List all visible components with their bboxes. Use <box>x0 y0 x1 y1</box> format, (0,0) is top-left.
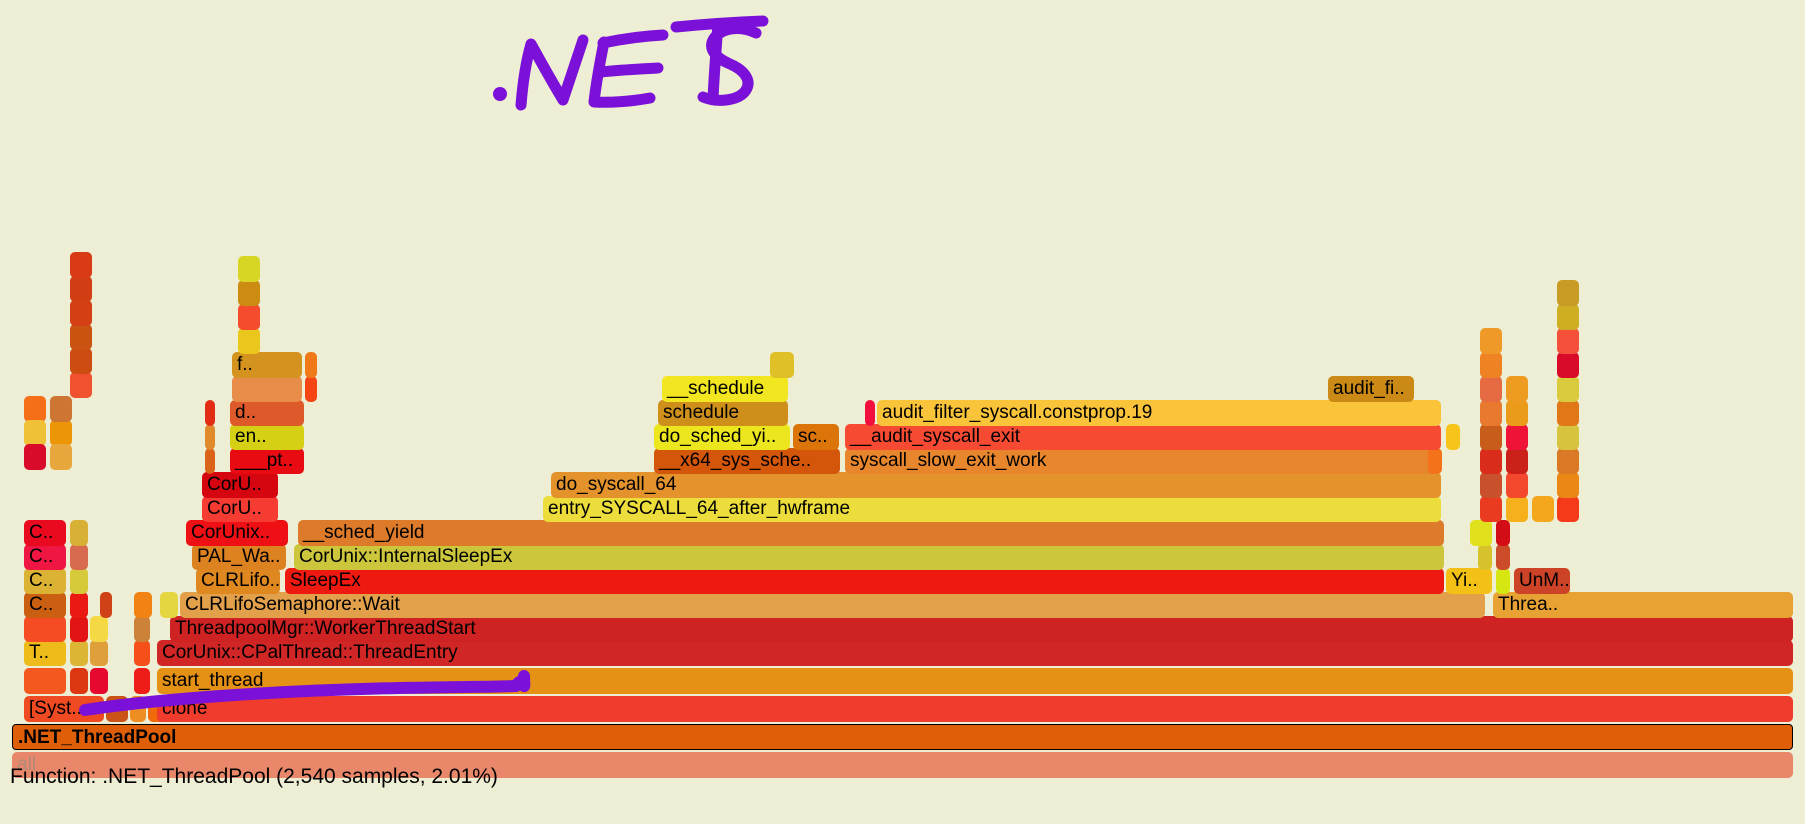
flame-frame-unlabeled[interactable] <box>205 400 215 426</box>
flame-frame[interactable]: d.. <box>230 400 304 426</box>
flame-frame-unlabeled[interactable] <box>90 640 108 666</box>
flame-frame-unlabeled[interactable] <box>1480 424 1502 450</box>
flame-frame-label: start_thread <box>162 670 263 691</box>
flame-frame-unlabeled[interactable] <box>205 424 215 450</box>
flame-frame[interactable]: SleepEx <box>285 568 1444 594</box>
flame-frame-unlabeled[interactable] <box>865 400 875 426</box>
flame-frame-unlabeled[interactable] <box>1506 376 1528 402</box>
flame-frame-unlabeled[interactable] <box>24 668 66 694</box>
flame-frame-label: audit_fi.. <box>1333 378 1405 399</box>
flame-frame-label: CorUnix::CPalThread::ThreadEntry <box>162 642 458 663</box>
flame-frame-unlabeled[interactable] <box>1480 472 1502 498</box>
flame-frame[interactable]: start_thread <box>157 668 1793 694</box>
flame-frame-unlabeled[interactable] <box>134 616 150 642</box>
flame-frame-unlabeled[interactable] <box>70 640 88 666</box>
flame-frame[interactable]: ___pt.. <box>230 448 304 474</box>
flame-frame-unlabeled[interactable] <box>130 696 146 722</box>
flame-frame[interactable]: ThreadpoolMgr::WorkerThreadStart <box>170 616 1793 642</box>
flame-frame[interactable]: schedule <box>658 400 788 426</box>
flame-frame[interactable]: do_sched_yi.. <box>654 424 790 450</box>
flame-frame-unlabeled[interactable] <box>1557 280 1579 306</box>
flame-frame[interactable]: CorU.. <box>202 472 278 498</box>
flame-frame-unlabeled[interactable] <box>1557 472 1579 498</box>
flame-frame-unlabeled[interactable] <box>1506 400 1528 426</box>
flame-frame[interactable]: CorU.. <box>202 496 278 522</box>
flame-frame-unlabeled[interactable] <box>50 396 72 422</box>
flame-frame-label: clone <box>162 698 207 719</box>
flame-frame[interactable]: audit_fi.. <box>1328 376 1414 402</box>
status-line: Function: .NET_ThreadPool (2,540 samples… <box>10 765 498 789</box>
flame-frame-unlabeled[interactable] <box>50 420 72 446</box>
flame-frame-unlabeled[interactable] <box>106 696 128 722</box>
flame-frame-label: en.. <box>235 426 267 447</box>
flame-frame-label: __x64_sys_sche.. <box>659 450 811 471</box>
flame-frame[interactable]: syscall_slow_exit_work <box>845 448 1441 474</box>
flame-frame-unlabeled[interactable] <box>134 668 150 694</box>
flame-frame-unlabeled[interactable] <box>1506 472 1528 498</box>
flame-frame-unlabeled[interactable] <box>1557 304 1579 330</box>
flame-frame-unlabeled[interactable] <box>70 252 92 278</box>
flame-frame-unlabeled[interactable] <box>24 444 46 470</box>
flame-frame-label: CorU.. <box>207 474 262 495</box>
flame-frame-unlabeled[interactable] <box>70 372 92 398</box>
flame-frame-label: CorUnix::InternalSleepEx <box>299 546 512 567</box>
flame-frame-unlabeled[interactable] <box>70 520 88 546</box>
flame-frame-label: C.. <box>29 522 53 543</box>
flame-frame-label: C.. <box>29 546 53 567</box>
flame-frame-label: entry_SYSCALL_64_after_hwframe <box>548 498 850 519</box>
flame-frame-unlabeled[interactable] <box>238 328 260 354</box>
flame-frame-unlabeled[interactable] <box>1480 400 1502 426</box>
flame-frame-unlabeled[interactable] <box>232 376 302 402</box>
flame-frame-unlabeled[interactable] <box>134 592 152 618</box>
flame-frame-unlabeled[interactable] <box>70 276 92 302</box>
flame-frame-unlabeled[interactable] <box>1557 496 1579 522</box>
flame-frame-label: PAL_Wa.. <box>197 546 280 567</box>
flame-frame-unlabeled[interactable] <box>1557 328 1579 354</box>
flame-frame-unlabeled[interactable] <box>70 568 88 594</box>
flame-frame-label: [Syst.. <box>29 698 82 719</box>
flame-frame-unlabeled[interactable] <box>70 348 92 374</box>
flame-frame-label: f.. <box>237 354 253 375</box>
flame-frame-label: __schedule <box>667 378 764 399</box>
flame-frame-label: T.. <box>29 642 49 663</box>
flame-frame-unlabeled[interactable] <box>1480 352 1502 378</box>
flame-frame[interactable]: .NET_ThreadPool <box>12 724 1793 750</box>
flame-frame-label: SleepEx <box>290 570 361 591</box>
flame-frame-unlabeled[interactable] <box>100 592 112 618</box>
flame-frame-unlabeled[interactable] <box>1506 448 1528 474</box>
flame-frame-unlabeled[interactable] <box>70 324 92 350</box>
flame-frame-unlabeled[interactable] <box>305 352 317 378</box>
flame-frame-unlabeled[interactable] <box>1480 448 1502 474</box>
flame-frame-label: ___pt.. <box>235 450 293 471</box>
flame-frame[interactable]: CLRLifo.. <box>196 568 280 594</box>
flame-frame[interactable]: CLRLifoSemaphore::Wait <box>180 592 1485 618</box>
flame-frame-unlabeled[interactable] <box>160 592 178 618</box>
flame-frame[interactable]: C.. <box>24 520 66 546</box>
flame-frame-label: schedule <box>663 402 739 423</box>
flame-frame-unlabeled[interactable] <box>205 448 215 474</box>
flame-frame-label: __audit_syscall_exit <box>850 426 1020 447</box>
flame-frame-unlabeled[interactable] <box>305 376 317 402</box>
flame-frame[interactable]: audit_filter_syscall.constprop.19 <box>877 400 1441 426</box>
flame-frame-unlabeled[interactable] <box>238 280 260 306</box>
flame-frame[interactable]: UnM.. <box>1514 568 1570 594</box>
flame-frame[interactable]: CorUnix::CPalThread::ThreadEntry <box>157 640 1793 666</box>
flame-frame-label: CorUnix.. <box>191 522 270 543</box>
flame-frame[interactable]: __x64_sys_sche.. <box>654 448 840 474</box>
flame-frame[interactable]: entry_SYSCALL_64_after_hwframe <box>543 496 1441 522</box>
flame-frame-unlabeled[interactable] <box>1557 400 1579 426</box>
flame-frame-unlabeled[interactable] <box>1446 424 1460 450</box>
flame-frame-unlabeled[interactable] <box>770 352 794 378</box>
flame-frame-label: __sched_yield <box>303 522 424 543</box>
flame-frame[interactable]: do_syscall_64 <box>551 472 1441 498</box>
flame-frame[interactable]: en.. <box>230 424 304 450</box>
flame-frame-label: do_sched_yi.. <box>659 426 776 447</box>
flame-frame[interactable]: CorUnix.. <box>186 520 288 546</box>
flame-frame-unlabeled[interactable] <box>70 592 88 618</box>
flame-frame-unlabeled[interactable] <box>238 256 260 282</box>
flame-frame-label: C.. <box>29 594 53 615</box>
flame-frame-unlabeled[interactable] <box>238 304 260 330</box>
flame-frame-label: audit_filter_syscall.constprop.19 <box>882 402 1152 423</box>
flame-frame-unlabeled[interactable] <box>1480 328 1502 354</box>
flame-frame-unlabeled[interactable] <box>24 420 46 446</box>
flame-frame-unlabeled[interactable] <box>1480 376 1502 402</box>
flame-frame-unlabeled[interactable] <box>1506 496 1528 522</box>
flame-frame-unlabeled[interactable] <box>1496 520 1510 546</box>
flame-frame-unlabeled[interactable] <box>24 396 46 422</box>
flame-frame-label: syscall_slow_exit_work <box>850 450 1046 471</box>
flame-frame[interactable]: C.. <box>24 544 66 570</box>
flame-frame[interactable]: clone <box>157 696 1793 722</box>
flame-frame[interactable]: Threa.. <box>1493 592 1793 618</box>
flame-frame-unlabeled[interactable] <box>1496 568 1510 594</box>
flame-frame-unlabeled[interactable] <box>1478 544 1492 570</box>
flame-frame-unlabeled[interactable] <box>1470 520 1492 546</box>
flame-frame-unlabeled[interactable] <box>1428 448 1442 474</box>
flame-frame[interactable]: C.. <box>24 568 66 594</box>
flame-frame-unlabeled[interactable] <box>1496 544 1510 570</box>
flame-frame[interactable]: f.. <box>232 352 302 378</box>
flame-frame-unlabeled[interactable] <box>90 668 108 694</box>
flame-frame-unlabeled[interactable] <box>1557 376 1579 402</box>
flame-frame-unlabeled[interactable] <box>70 616 88 642</box>
flame-frame-unlabeled[interactable] <box>1480 496 1502 522</box>
flame-frame-unlabeled[interactable] <box>70 544 88 570</box>
flame-frame-label: d.. <box>235 402 256 423</box>
flame-frame[interactable]: [Syst.. <box>24 696 104 722</box>
flame-frame-unlabeled[interactable] <box>1532 496 1554 522</box>
flame-frame-unlabeled[interactable] <box>70 300 92 326</box>
flame-frame-unlabeled[interactable] <box>24 616 66 642</box>
flame-graph-canvas[interactable]: all.NET_ThreadPool[Syst..clonestart_thre… <box>0 0 1805 824</box>
flame-frame[interactable]: sc.. <box>793 424 839 450</box>
flame-frame[interactable]: __sched_yield <box>298 520 1444 546</box>
flame-frame-unlabeled[interactable] <box>1557 352 1579 378</box>
flame-frame[interactable]: __schedule <box>662 376 788 402</box>
flame-frame[interactable]: __audit_syscall_exit <box>845 424 1441 450</box>
flame-frame-unlabeled[interactable] <box>1506 424 1528 450</box>
flame-frame-unlabeled[interactable] <box>134 640 150 666</box>
flame-frame-unlabeled[interactable] <box>1557 424 1579 450</box>
flame-frame-label: CorU.. <box>207 498 262 519</box>
flame-frame[interactable]: C.. <box>24 592 66 618</box>
flame-frame-unlabeled[interactable] <box>70 668 88 694</box>
flame-frame-unlabeled[interactable] <box>50 444 72 470</box>
flame-frame-label: UnM.. <box>1519 570 1570 591</box>
flame-frame-label: C.. <box>29 570 53 591</box>
flame-frame[interactable]: Yi.. <box>1446 568 1492 594</box>
flame-frame-label: .NET_ThreadPool <box>18 727 176 748</box>
flame-frame-label: ThreadpoolMgr::WorkerThreadStart <box>175 618 476 639</box>
flame-frame-label: CLRLifoSemaphore::Wait <box>185 594 400 615</box>
flame-frame-label: sc.. <box>798 426 828 447</box>
flame-frame[interactable]: PAL_Wa.. <box>192 544 286 570</box>
flame-frame-unlabeled[interactable] <box>1557 448 1579 474</box>
flame-frame[interactable]: CorUnix::InternalSleepEx <box>294 544 1444 570</box>
flame-frame-label: CLRLifo.. <box>201 570 280 591</box>
flame-frame-label: Threa.. <box>1498 594 1558 615</box>
flame-frame-label: do_syscall_64 <box>556 474 676 495</box>
flame-frame-label: Yi.. <box>1451 570 1478 591</box>
flame-frame-unlabeled[interactable] <box>90 616 108 642</box>
flame-frame[interactable]: T.. <box>24 640 66 666</box>
